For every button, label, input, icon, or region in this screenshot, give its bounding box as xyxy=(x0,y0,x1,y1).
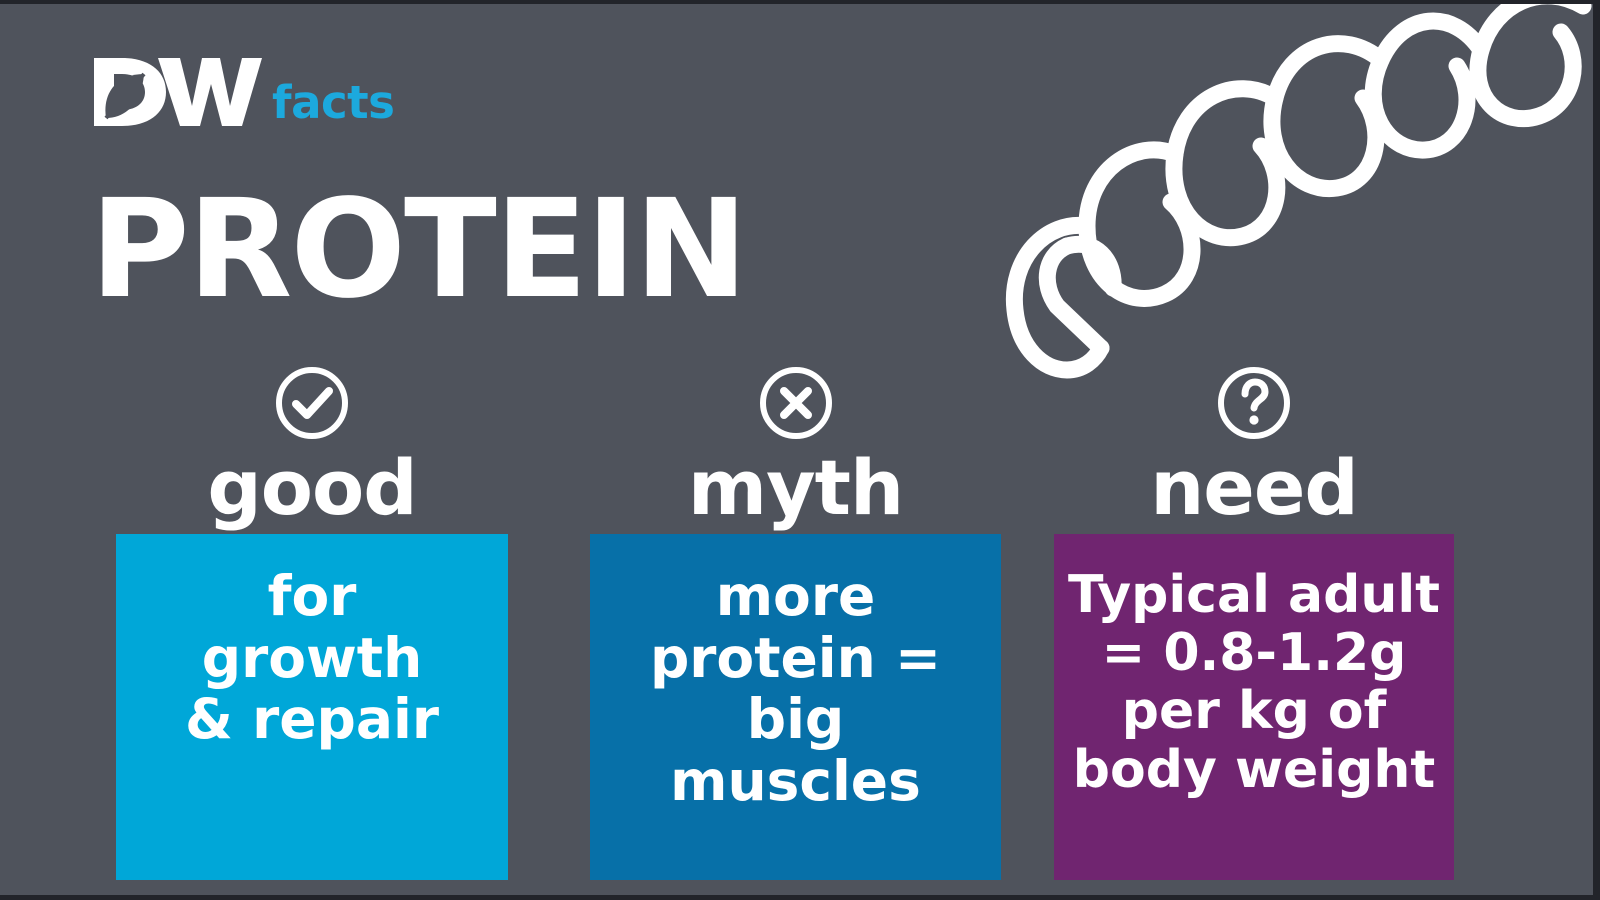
page-title: PROTEIN xyxy=(90,182,746,318)
check-circle-icon xyxy=(273,364,351,442)
box-line: = 0.8-1.2g xyxy=(1060,624,1448,682)
box-line: per kg of xyxy=(1060,682,1448,740)
brand-logo: facts xyxy=(92,56,394,128)
infographic-canvas: facts PROTEIN good for growth & repair xyxy=(0,0,1600,900)
box-line: & repair xyxy=(122,689,502,751)
dw-logo-icon xyxy=(92,56,264,128)
box-line: growth xyxy=(122,628,502,690)
column-label-need: need xyxy=(1150,450,1358,526)
column-need: need Typical adult = 0.8-1.2g per kg of … xyxy=(1054,364,1454,880)
question-circle-icon xyxy=(1215,364,1293,442)
column-box-myth: more protein = big muscles xyxy=(590,534,1001,880)
box-line: more xyxy=(596,566,995,628)
column-label-good: good xyxy=(207,450,416,526)
brand-suffix: facts xyxy=(272,82,394,125)
column-myth: myth more protein = big muscles xyxy=(590,364,1001,880)
x-circle-icon xyxy=(757,364,835,442)
box-line: big xyxy=(596,689,995,751)
box-line: for xyxy=(122,566,502,628)
protein-coil-illustration xyxy=(983,0,1600,388)
box-line: Typical adult xyxy=(1060,566,1448,624)
column-good: good for growth & repair xyxy=(116,364,508,880)
box-line: body weight xyxy=(1060,741,1448,799)
column-label-myth: myth xyxy=(688,450,903,526)
box-line: protein = xyxy=(596,628,995,690)
column-box-good: for growth & repair xyxy=(116,534,508,880)
box-line: muscles xyxy=(596,751,995,813)
column-box-need: Typical adult = 0.8-1.2g per kg of body … xyxy=(1054,534,1454,880)
